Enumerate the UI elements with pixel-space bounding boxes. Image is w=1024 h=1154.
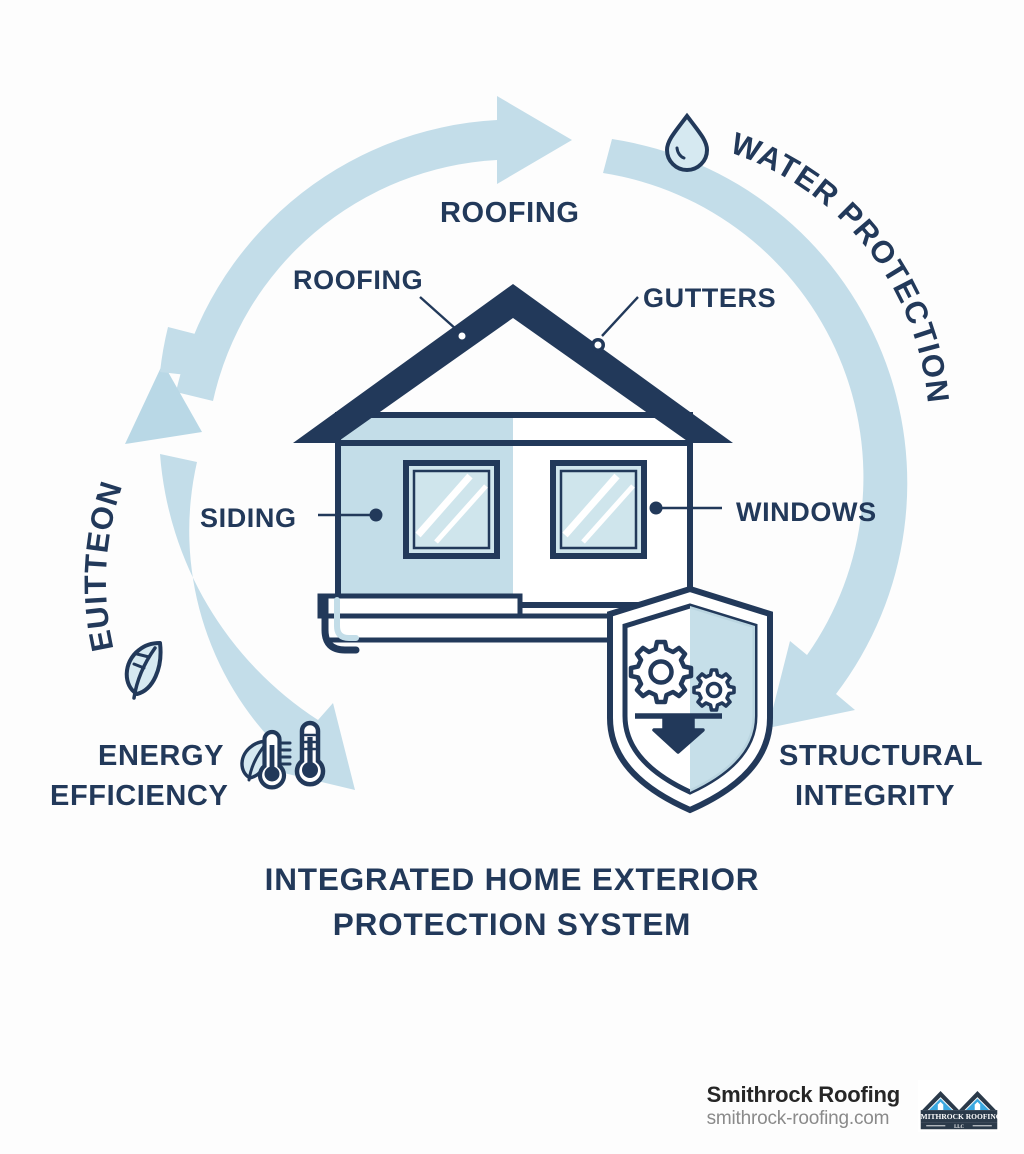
cycle-arc-left-stub — [160, 327, 203, 376]
leader-dot-windows — [650, 502, 663, 515]
cycle-label-water-protection-text: WATER PROTECTION — [726, 126, 956, 406]
cycle-arc-top — [176, 96, 572, 401]
leader-dot-gutters-core — [595, 342, 602, 349]
svg-text:WATER PROTECTION: WATER PROTECTION — [726, 126, 956, 406]
gear-small-icon — [694, 670, 734, 710]
foundation-slab — [320, 596, 520, 616]
gear-large-icon — [631, 642, 691, 702]
thermometer-icon-2 — [297, 723, 323, 784]
cycle-label-energy-line2: EFFICIENCY — [50, 780, 228, 812]
cycle-label-roofing: ROOFING — [440, 197, 580, 229]
cycle-label-insulation-text: EUITTEON — [78, 477, 129, 655]
leader-dot-roofing-core — [459, 333, 466, 340]
leader-roofing — [420, 297, 457, 330]
footer-text-block: Smithrock Roofing smithrock-roofing.com — [707, 1082, 900, 1130]
shield-icon — [610, 589, 770, 810]
page-title-line2: PROTECTION SYSTEM — [333, 906, 691, 942]
footer-company-name: Smithrock Roofing — [707, 1082, 900, 1108]
leader-dot-siding — [370, 509, 383, 522]
callout-label-windows: WINDOWS — [736, 497, 877, 527]
callout-label-siding: SIDING — [200, 503, 297, 533]
cycle-label-insulation: EUITTEON — [78, 462, 132, 665]
logo-text-line1: SMITHROCK ROOFING — [918, 1112, 1000, 1121]
svg-text:EUITTEON: EUITTEON — [78, 477, 129, 655]
cycle-label-structural-line1: STRUCTURAL — [779, 740, 983, 772]
infographic-canvas: ROOFING GUTTERS SIDING WINDOWS ROOFING W… — [0, 0, 1024, 1154]
callout-label-roofing: ROOFING — [293, 265, 423, 295]
page-title-line1: INTEGRATED HOME EXTERIOR — [265, 861, 760, 897]
callout-label-gutters: GUTTERS — [643, 283, 776, 313]
logo-text-line2: LLC — [954, 1125, 964, 1130]
leader-gutters — [602, 297, 638, 336]
leaf-icon — [127, 643, 161, 698]
cycle-label-energy-line1: ENERGY — [98, 740, 224, 772]
window-left — [406, 463, 497, 556]
window-right — [553, 463, 644, 556]
cycle-label-water-protection: WATER PROTECTION — [722, 126, 956, 406]
smithrock-roofing-logo: SMITHROCK ROOFING LLC — [918, 1080, 1000, 1132]
infographic-diagram: ROOFING GUTTERS SIDING WINDOWS ROOFING W… — [0, 0, 1024, 1154]
cycle-label-structural-line2: INTEGRITY — [795, 780, 955, 812]
footer-website[interactable]: smithrock-roofing.com — [707, 1108, 900, 1130]
water-drop-icon — [667, 116, 707, 170]
footer-branding: Smithrock Roofing smithrock-roofing.com … — [707, 1080, 1000, 1132]
